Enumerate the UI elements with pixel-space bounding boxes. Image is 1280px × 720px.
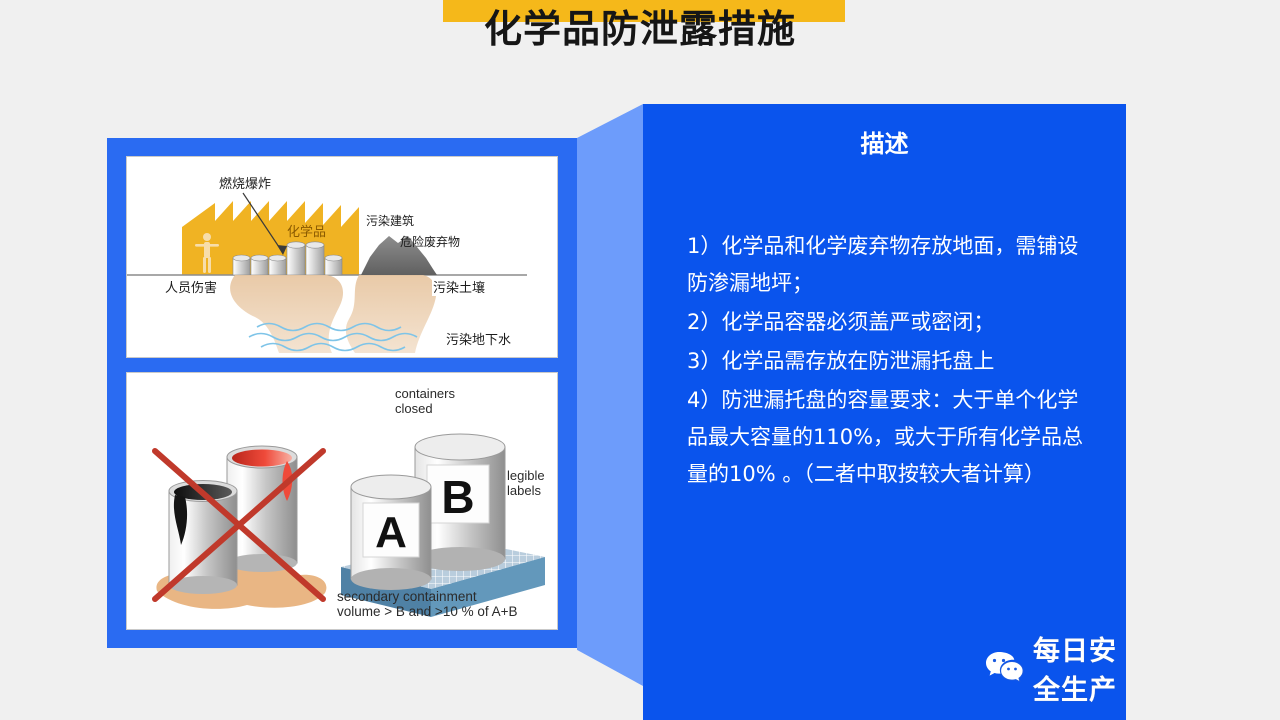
description-item-3: 3）化学品需存放在防泄漏托盘上 <box>687 343 1087 380</box>
panel-bevel-connector <box>577 104 643 686</box>
soil-plume-right <box>346 275 436 353</box>
description-heading: 描述 <box>643 124 1126 159</box>
label-secondary-containment: secondary containment volume > B and >10… <box>337 589 518 619</box>
description-item-2: 2）化学品容器必须盖严或密闭； <box>687 304 1087 341</box>
description-item-4: 4）防泄漏托盘的容量要求：大于单个化学品最大容量的110%，或大于所有化学品总量… <box>687 382 1087 493</box>
description-item-1: 1）化学品和化学废弃物存放地面，需铺设防渗漏地坪； <box>687 228 1087 302</box>
label-chemicals: 化学品 <box>287 221 326 240</box>
label-personal-injury: 人员伤害 <box>165 277 217 296</box>
label-explosion: 燃烧爆炸 <box>219 173 271 192</box>
bad-practice-group <box>155 446 326 609</box>
label-legible-labels: legible labels <box>507 469 545 498</box>
description-list: 1）化学品和化学废弃物存放地面，需铺设防渗漏地坪； 2）化学品容器必须盖严或密闭… <box>687 228 1087 495</box>
label-contaminated-building: 污染建筑 <box>366 212 414 229</box>
description-panel: 描述 1）化学品和化学废弃物存放地面，需铺设防渗漏地坪； 2）化学品容器必须盖严… <box>643 104 1126 720</box>
pollution-graphic <box>127 157 557 357</box>
label-contaminated-soil: 污染土壤 <box>432 277 486 296</box>
image-panel: 燃烧爆炸 化学品 污染建筑 危险废弃物 人员伤害 污染土壤 污染地下水 <box>107 138 577 648</box>
label-hazardous-waste: 危险废弃物 <box>400 233 460 250</box>
drum-b-letter: B <box>441 471 474 523</box>
slide-title-area: 化学品防泄露措施 <box>0 0 1280 72</box>
illustration-containers-frame: B A containers closed legible labels <box>126 372 558 630</box>
drum-a: A <box>351 475 431 590</box>
container-containment-illustration: B A containers closed legible labels <box>127 373 557 629</box>
label-contaminated-groundwater: 污染地下水 <box>445 329 512 348</box>
drum-a-letter: A <box>375 508 407 557</box>
illustration-pollution-frame: 燃烧爆炸 化学品 污染建筑 危险废弃物 人员伤害 污染土壤 污染地下水 <box>126 156 558 358</box>
slide-root: 化学品防泄露措施 <box>0 0 1280 720</box>
page-title: 化学品防泄露措施 <box>0 4 1280 54</box>
wechat-icon <box>985 650 1025 687</box>
watermark-text: 每日安全生产 <box>1033 629 1126 707</box>
soil-plume-left <box>230 275 343 353</box>
label-containers-closed: containers closed <box>395 387 455 416</box>
watermark: 每日安全生产 <box>985 648 1126 688</box>
chemical-pollution-illustration: 燃烧爆炸 化学品 污染建筑 危险废弃物 人员伤害 污染土壤 污染地下水 <box>127 157 557 357</box>
